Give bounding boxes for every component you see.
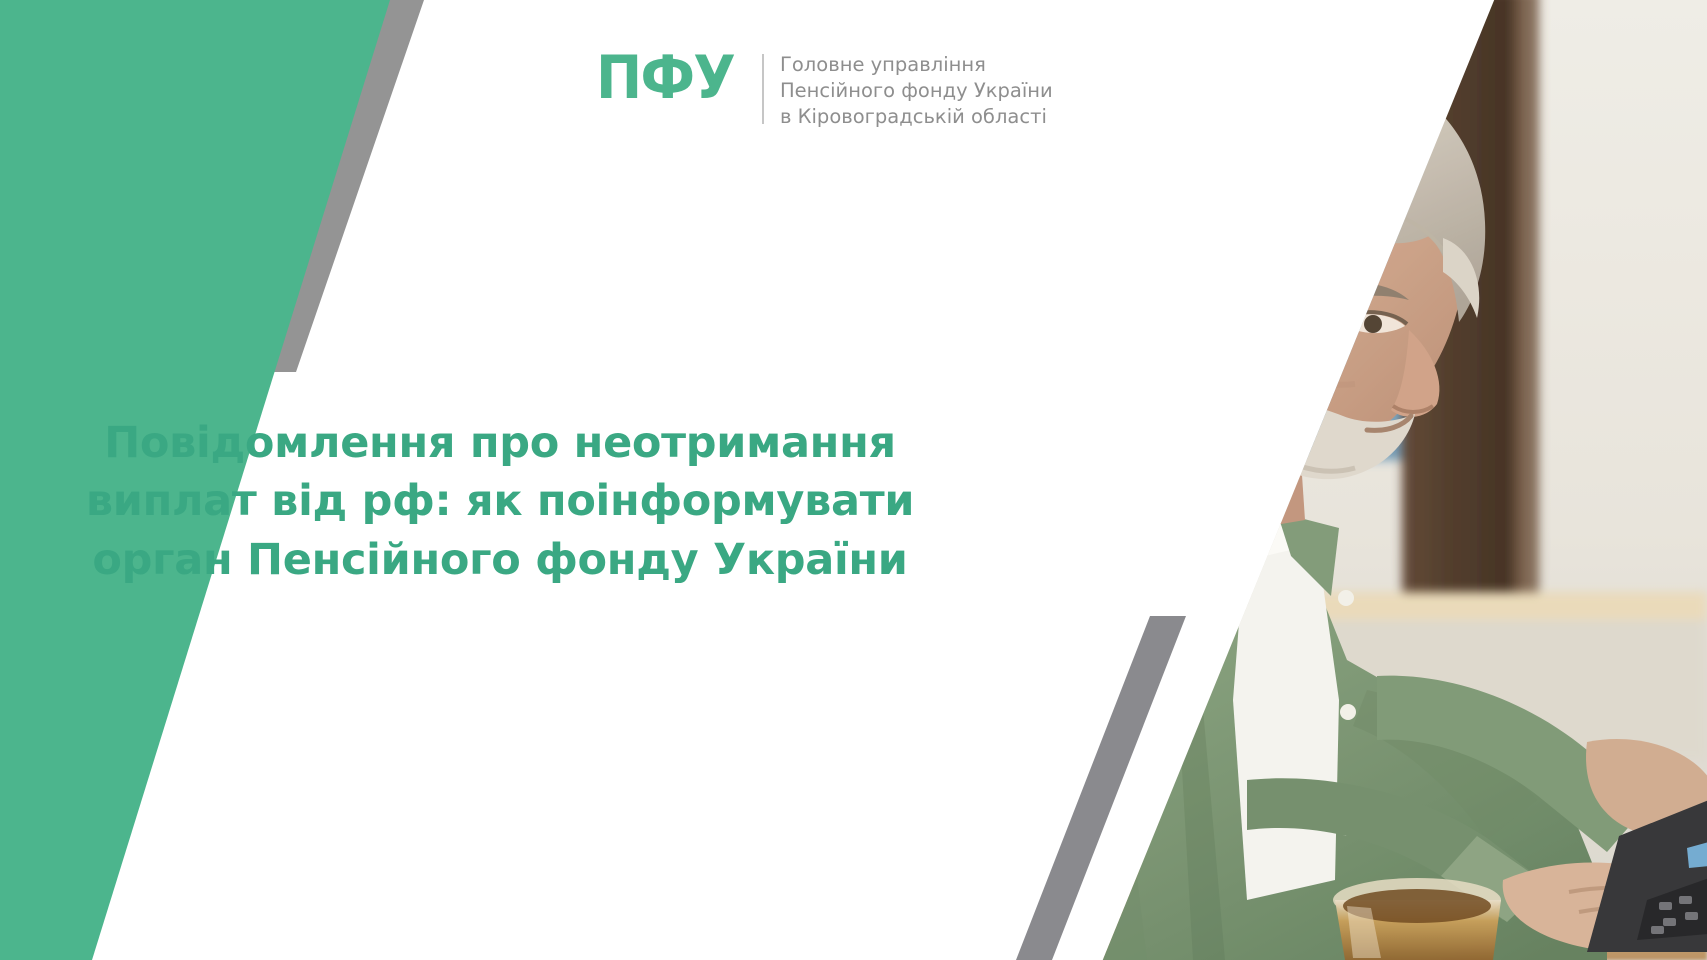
- logo-org-name: Головне управління Пенсійного фонду Укра…: [780, 50, 1053, 130]
- pfu-logo: ПФУ Головне управління Пенсійного фонду …: [596, 50, 1053, 130]
- headline-line-3: орган Пенсійного фонду України: [0, 531, 1000, 589]
- logo-line-3: в Кіровоградській області: [780, 104, 1053, 130]
- logo-divider: [762, 54, 764, 124]
- logo-line-1: Головне управління: [780, 52, 1053, 78]
- headline: Повідомлення про неотримання виплат від …: [0, 414, 1000, 589]
- headline-line-2: виплат від рф: як поінформувати: [0, 472, 1000, 530]
- logo-line-2: Пенсійного фонду України: [780, 78, 1053, 104]
- banner-root: ПФУ Головне управління Пенсійного фонду …: [0, 0, 1707, 960]
- pfu-wordmark-icon: ПФУ: [596, 50, 734, 107]
- gray-stripe-bottom-icon: [1016, 616, 1186, 960]
- headline-line-1: Повідомлення про неотримання: [0, 414, 1000, 472]
